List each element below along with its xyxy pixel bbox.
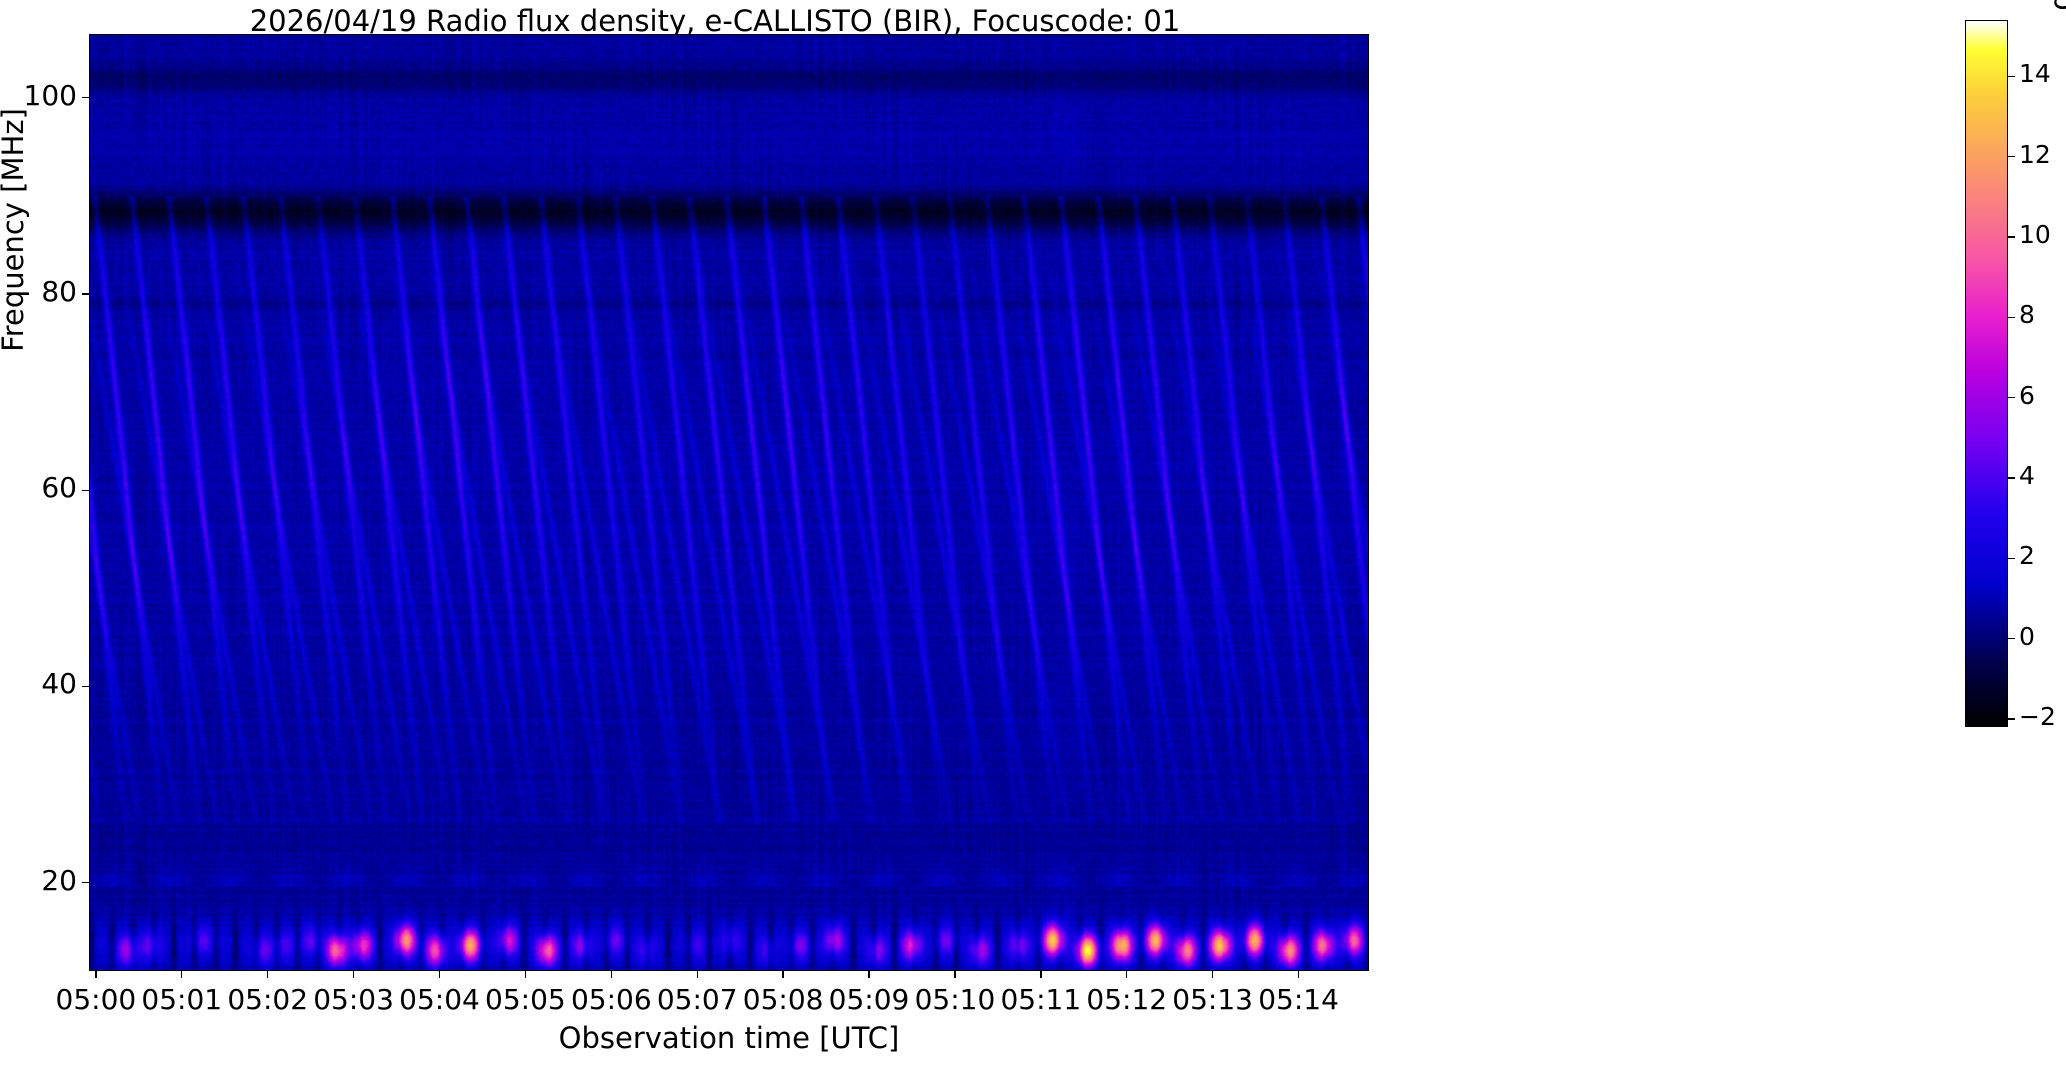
colorbar-tick-mark [2008, 397, 2015, 398]
colorbar-tick-mark [2008, 718, 2015, 719]
x-tick-mark [439, 971, 440, 978]
x-tick-mark [697, 971, 698, 978]
colorbar-gradient [1966, 21, 2007, 726]
spectrogram-image [90, 35, 1368, 970]
x-tick-mark [353, 971, 354, 978]
colorbar-tick-mark [2008, 236, 2015, 237]
x-tick-mark [868, 971, 869, 978]
colorbar-tick-label: 12 [2019, 140, 2051, 169]
x-axis-label: Observation time [UTC] [89, 1021, 1369, 1055]
colorbar-tick-label: 10 [2019, 220, 2051, 249]
x-tick-label: 05:14 [1219, 983, 1379, 1016]
colorbar-tick-mark [2008, 76, 2015, 77]
y-tick-label: 60 [11, 471, 77, 504]
y-axis-label-text: Frequency [MHz] [0, 80, 30, 380]
x-tick-mark [1212, 971, 1213, 978]
x-tick-mark [782, 971, 783, 978]
colorbar[interactable] [1965, 20, 2008, 727]
y-tick-mark [82, 97, 89, 98]
colorbar-tick-mark [2008, 638, 2015, 639]
x-tick-mark [1126, 971, 1127, 978]
colorbar-tick-label: −2 [2019, 702, 2056, 731]
x-tick-mark [267, 971, 268, 978]
colorbar-tick-label: 8 [2019, 300, 2035, 329]
colorbar-tick-label: 2 [2019, 541, 2035, 570]
y-tick-mark [82, 686, 89, 687]
y-axis-label: Frequency [MHz] [0, 80, 30, 380]
y-tick-mark [82, 882, 89, 883]
colorbar-tick-label: 4 [2019, 461, 2035, 490]
colorbar-tick-mark [2008, 156, 2015, 157]
x-tick-mark [525, 971, 526, 978]
colorbar-tick-mark [2008, 477, 2015, 478]
figure-root: 2026/04/19 Radio flux density, e-CALLIST… [0, 0, 2066, 1067]
colorbar-tick-label: 0 [2019, 622, 2035, 651]
spectrogram-plot-area[interactable] [89, 34, 1369, 971]
y-tick-mark [82, 490, 89, 491]
x-tick-mark [611, 971, 612, 978]
x-tick-mark [1040, 971, 1041, 978]
x-tick-mark [181, 971, 182, 978]
y-tick-label: 20 [11, 864, 77, 897]
colorbar-tick-label: 6 [2019, 381, 2035, 410]
x-tick-mark [95, 971, 96, 978]
colorbar-tick-mark [2008, 317, 2015, 318]
x-tick-mark [1298, 971, 1299, 978]
figure-title: 2026/04/19 Radio flux density, e-CALLIST… [0, 4, 1430, 38]
y-tick-mark [82, 293, 89, 294]
y-tick-label: 40 [11, 667, 77, 700]
x-tick-mark [954, 971, 955, 978]
colorbar-label: dB above background [2044, 0, 2066, 112]
colorbar-tick-mark [2008, 558, 2015, 559]
